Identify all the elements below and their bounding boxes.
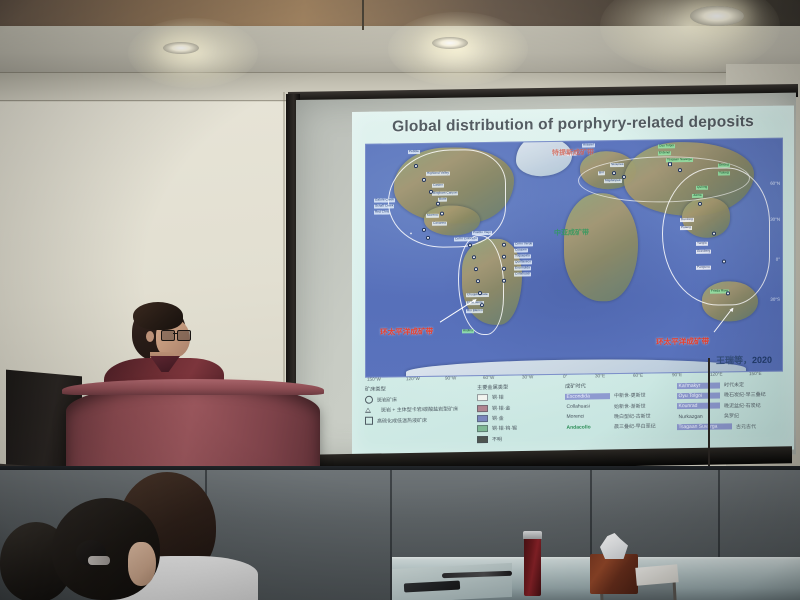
attendee-hair-tie [88,556,110,565]
belt-annotation-circum-pacific-west: 环太平洋成矿带 [380,326,433,338]
belt-annotation-central-asia: 中亚成矿带 [554,227,589,238]
legend-item: Andacollo 晨三叠纪-早白垩纪 [565,423,675,432]
map-label: Cerro Verde [514,242,533,246]
legend-label: 铜·钼·钨·锡 [492,425,517,432]
map-label: Galore Creek [374,198,395,202]
light-glow [388,12,528,86]
legend-item: Collahuasi 始新世-渐新世 [565,402,675,411]
era-label: 古元古代 [736,423,756,430]
color-swatch [477,394,488,401]
legend-header: 矿床类型 [365,384,475,393]
map-label: Collahuasi [514,272,531,276]
light-glow [128,18,258,88]
era-label: 中新世-更新世 [614,392,646,399]
map-label: Schaft Creek [374,204,394,208]
legend-label: 铜·钼 [492,394,504,401]
beverage-bottle [524,534,541,596]
lon-tick: 30°E [595,373,605,378]
map-label: Majdanpek [604,179,622,183]
color-swatch [477,405,488,412]
map-label: Dexing [718,163,730,167]
map-label: Rio Blanco [466,309,483,313]
lon-tick: 30°W [522,374,533,379]
presenter-ear [146,331,154,342]
legend-label: 不明 [492,436,502,443]
map-label: Cerro Colorado [454,237,478,241]
attendee-face [128,542,156,586]
deposit-name-chip: Escondida [565,393,610,400]
map-label: Bingham Canyon [432,191,458,195]
papers [635,564,678,586]
bottle-cap [523,531,542,539]
map-label: Red Chris [374,210,390,214]
map-label: Butte [438,198,447,202]
deposit-symbol [668,162,672,166]
legend-item: 铜·钼 [477,393,563,401]
legend-label: 铜·金 [492,415,504,422]
era-label: 晨三叠纪-早白垩纪 [614,423,656,431]
lon-tick: 150°E [749,371,762,376]
panel-seam [718,470,720,562]
map-label: Panguna [696,266,711,270]
legend-label: 铜·钼·金 [492,404,510,411]
legend-header: 成矿时代 [565,381,675,390]
lat-tick-0: 0° [776,257,780,262]
era-label: 晚白型纪-古新世 [614,413,651,421]
legend-metal-type: 主要金属类型 铜·钼 铜·钼·金 铜·金 铜·钼·钨·锡 [477,383,563,446]
deposit-symbol [410,232,412,234]
panel-seam [590,470,592,562]
color-swatch [477,425,488,432]
lon-tick: 120°W [406,376,420,381]
map-label: Pulang [680,226,692,230]
legend-item: Escondida 中新世-更新世 [565,391,675,400]
legend-label: 高硫化成低温热液矿床 [377,417,427,425]
belt-annotation-circum-pacific-east: 环太平洋成矿带 [656,336,709,348]
lon-tick: 90°E [672,372,682,377]
map-label: Yangla [696,242,708,246]
map-label: Qulong [696,186,708,190]
legend-item: 斑岩 + 主体型卡岩/碳酸盐岩型矿床 [365,406,475,414]
land-africa [564,193,638,302]
color-swatch [477,436,488,443]
hanging-cable [708,358,732,476]
legend-item: Morenci 晚白型纪-古新世 [565,412,675,421]
lon-tick: 60°W [483,375,494,380]
lon-tick: 60°E [633,373,643,378]
legend-header: 主要金属类型 [477,383,563,391]
map-label: Yulong [718,171,730,175]
tissue-box [590,554,638,594]
deposit-name-chip: Andacollo [565,424,610,431]
map-label: Oyu Tolgoi [658,144,675,148]
legend-deposit-type: 矿床类型 斑岩矿床 斑岩 + 主体型卡岩/碳酸盐岩型矿床 高硫化成低温热液矿床 [365,384,475,428]
presenter-hair [133,302,183,330]
pendant-rod [362,0,364,30]
glasses-icon [161,330,189,339]
triangle-symbol-icon [365,407,377,412]
legend-item: 铜·钼·金 [477,403,563,411]
legend-item: 铜·金 [477,414,563,422]
belt-annotation-tethys: 特提斯成矿带 [552,147,594,158]
ceiling-downlight [432,37,468,49]
photo-scene: Global distribution of porphyry-related … [0,0,800,600]
legend-age-left: 成矿时代 Escondida 中新世-更新世 Collahuasi 始新世-渐新… [565,381,675,434]
square-symbol-icon [365,417,373,425]
legend-item: 铜·钼·钨·锡 [477,424,563,432]
legend-label: 斑岩矿床 [377,396,397,403]
color-swatch [477,415,488,422]
lat-tick-30s: 30°S [770,297,780,302]
lectern-top [62,379,324,395]
map-label: Toquepala [514,254,531,258]
map-label: Skouries [610,163,624,167]
map-label: Casino [432,184,444,188]
lon-tick: 0° [563,374,567,379]
map-label: Cuajone [514,248,528,252]
ceiling-downlight [690,6,744,26]
lat-tick-60n: 60°N [770,181,780,186]
slide-title: Global distribution of porphyry-related … [366,113,780,137]
legend-item: 斑岩矿床 [365,394,475,404]
legend-item: 高硫化成低温热液矿床 [365,415,475,425]
deposit-name-chip: Collahuasi [565,403,610,410]
map-label: Pueblo Viejo [472,231,492,235]
citation-year: 2020 [752,355,772,365]
map-label: Duolong [680,218,694,222]
map-label: Andina [462,329,474,333]
map-label: Quellaveco [514,260,532,264]
map-label: Bor [598,171,605,175]
world-map: 60°N 30°N 0° 30°S Pebble Galore Creek Sc… [365,138,783,378]
map-label: Highland Valley [426,172,450,176]
ceiling-downlight [163,42,199,54]
era-label: 始新世-渐新世 [614,402,646,409]
lon-tick: 90°W [445,375,456,380]
lat-tick-30n: 30°N [770,217,780,222]
legend-item: 不明 [477,435,563,443]
deposit-name-chip: Morenci [565,414,610,421]
map-label: Cananea [432,222,447,226]
map-label: Erdenet [658,151,671,155]
lon-tick: 150°W [367,377,381,382]
circle-symbol-icon [365,396,373,404]
map-label: Grasberg [696,250,711,254]
map-label: Jiama [692,194,703,198]
map-label: Escondida [514,266,531,270]
map-label: Pebble [408,150,420,154]
legend-label: 斑岩 + 主体型卡岩/碳酸盐岩型矿床 [381,406,458,413]
map-label: Morenci [426,214,439,218]
